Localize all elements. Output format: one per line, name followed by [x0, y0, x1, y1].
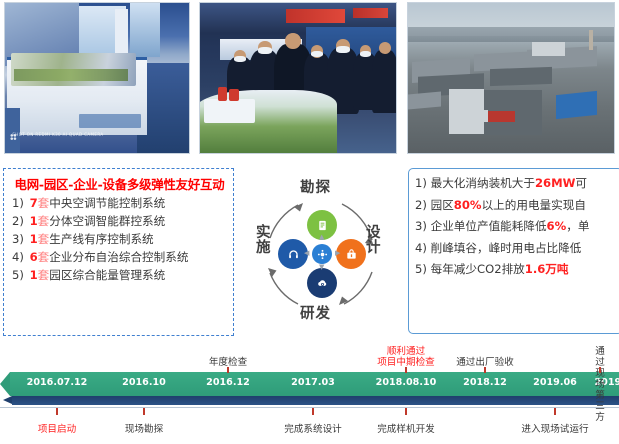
timeline-tick-up	[405, 367, 407, 373]
timeline-tick-up	[227, 367, 229, 373]
timeline-milestone-below: 进入现场试运行	[521, 421, 588, 435]
item-unit: 套	[38, 196, 50, 210]
item-prefix: 削峰填谷，峰时用电占比降低	[431, 241, 582, 255]
item-quantity: 1	[30, 268, 38, 282]
list-item: 5) 1套园区综合能量管理系统	[12, 270, 231, 282]
item-unit: 套	[38, 214, 50, 228]
lifecycle-diagram: 勘探 设计 研发 实施 ▲ ▶ ▼ ◀	[238, 174, 404, 336]
item-prefix: 每年减少CO2排放	[431, 262, 525, 276]
cycle-label-design: 设计	[366, 226, 383, 256]
list-item: 3) 1套生产线有序控制系统	[12, 234, 231, 246]
item-highlight: 26MW	[535, 176, 575, 190]
item-prefix: 园区	[431, 198, 454, 212]
item-highlight: 6%	[547, 219, 567, 233]
timeline-tick-up	[484, 367, 486, 373]
list-item: 1) 最大化消纳装机大于26MW可	[415, 178, 619, 190]
item-suffix: ，单	[566, 219, 589, 233]
timeline-date: 2016.10	[122, 377, 166, 388]
item-quantity: 1	[30, 214, 38, 228]
photo-strip: SHOT ON REDMI K30 AI QUAD CAMERA	[0, 0, 619, 156]
mini-arrow-right-icon: ▶	[335, 250, 340, 257]
content-row: 电网-园区-企业-设备多级弹性友好互动 1) 7套中央空调节能控制系统 2) 1…	[0, 160, 619, 342]
timeline-tick-down	[143, 408, 145, 415]
item-prefix: 最大化消纳装机大于	[431, 176, 535, 190]
item-number: 4)	[415, 241, 427, 255]
item-number: 2)	[415, 198, 427, 212]
item-text: 中央空调节能控制系统	[49, 196, 165, 210]
item-number: 5)	[12, 268, 24, 282]
photo-watermark: SHOT ON REDMI K30 AI QUAD CAMERA	[12, 132, 103, 138]
item-unit: 套	[38, 250, 50, 264]
timeline-date: 2016.07.12	[27, 377, 88, 388]
item-number: 1)	[415, 176, 427, 190]
timeline-milestone-above: 顺利通过 项目中期检查	[377, 346, 435, 368]
project-timeline: 2016.07.12 2016.10 2016.12 2017.03 2018.…	[0, 344, 619, 444]
item-unit: 套	[38, 232, 50, 246]
photo-exhibition-hall-model: SHOT ON REDMI K30 AI QUAD CAMERA	[4, 2, 190, 154]
timeline-date: 2018.08.10	[376, 377, 437, 388]
toolbox-icon	[336, 239, 366, 269]
timeline-date: 2017.03	[291, 377, 335, 388]
item-number: 3)	[415, 219, 427, 233]
item-number: 5)	[415, 262, 427, 276]
mini-arrow-up-icon: ▲	[319, 234, 324, 241]
timeline-tick-down	[405, 408, 407, 415]
item-unit: 套	[38, 268, 50, 282]
list-item: 4) 6套企业分布自治综合控制系统	[12, 252, 231, 264]
item-text: 园区综合能量管理系统	[49, 268, 165, 282]
cycle-hub: ▲ ▶ ▼ ◀	[282, 214, 362, 294]
list-item: 2) 1套分体空调智能群控系统	[12, 216, 231, 228]
item-prefix: 企业单位产值能耗降低	[431, 219, 547, 233]
cycle-label-develop: 研发	[300, 302, 331, 323]
mini-arrow-down-icon: ▼	[319, 264, 324, 271]
item-highlight: 80%	[454, 198, 482, 212]
left-panel-title: 电网-园区-企业-设备多级弹性友好互动	[8, 175, 231, 193]
item-text: 企业分布自治综合控制系统	[49, 250, 188, 264]
timeline-tick-down	[56, 408, 58, 415]
timeline-milestone-above: 通过现场 第三方	[591, 346, 610, 423]
item-quantity: 6	[30, 250, 38, 264]
hub-icon	[312, 244, 332, 264]
timeline-tick-down	[312, 408, 314, 415]
timeline-date: 2019.06	[533, 377, 577, 388]
gear-cloud-icon	[307, 268, 337, 298]
item-quantity: 1	[30, 232, 38, 246]
timeline-milestone-below: 现场勘探	[125, 421, 163, 435]
mini-arrow-left-icon: ◀	[304, 250, 309, 257]
cycle-label-implement: 实施	[256, 226, 273, 256]
item-suffix: 可	[575, 176, 587, 190]
list-item: 2) 园区80%以上的用电量实现自	[415, 200, 619, 212]
list-item: 3) 企业单位产值能耗降低6%，单	[415, 221, 619, 233]
timeline-date: 2016.12	[206, 377, 250, 388]
timeline-milestone-below: 完成系统设计	[284, 421, 342, 435]
photo-aerial-industrial-park	[407, 2, 615, 154]
timeline-milestone-below: 项目启动	[38, 421, 76, 435]
item-text: 生产线有序控制系统	[49, 232, 153, 246]
list-item: 1) 7套中央空调节能控制系统	[12, 198, 231, 210]
item-text: 分体空调智能群控系统	[49, 214, 165, 228]
timeline-tick-up	[599, 367, 601, 373]
timeline-date: 2018.12	[463, 377, 507, 388]
right-benefits-panel: 1) 最大化消纳装机大于26MW可 2) 园区80%以上的用电量实现自 3) 企…	[408, 168, 619, 334]
photo-officials-visiting-exhibition	[199, 2, 397, 154]
timeline-tick-down	[554, 408, 556, 415]
list-item: 5) 每年减少CO2排放1.6万吨	[415, 264, 619, 276]
list-item: 4) 削峰填谷，峰时用电占比降低	[415, 243, 619, 255]
item-quantity: 7	[30, 196, 38, 210]
timeline-band-shadow	[12, 396, 619, 405]
item-number: 4)	[12, 250, 24, 264]
timeline-milestone-below: 完成样机开发	[377, 421, 435, 435]
left-achievements-panel: 电网-园区-企业-设备多级弹性友好互动 1) 7套中央空调节能控制系统 2) 1…	[3, 168, 234, 336]
item-suffix: 以上的用电量实现自	[482, 198, 586, 212]
item-number: 3)	[12, 232, 24, 246]
item-highlight: 1.6万吨	[525, 262, 569, 276]
cycle-label-explore: 勘探	[300, 176, 331, 197]
timeline-baseline	[0, 407, 619, 408]
item-number: 2)	[12, 214, 24, 228]
item-number: 1)	[12, 196, 24, 210]
